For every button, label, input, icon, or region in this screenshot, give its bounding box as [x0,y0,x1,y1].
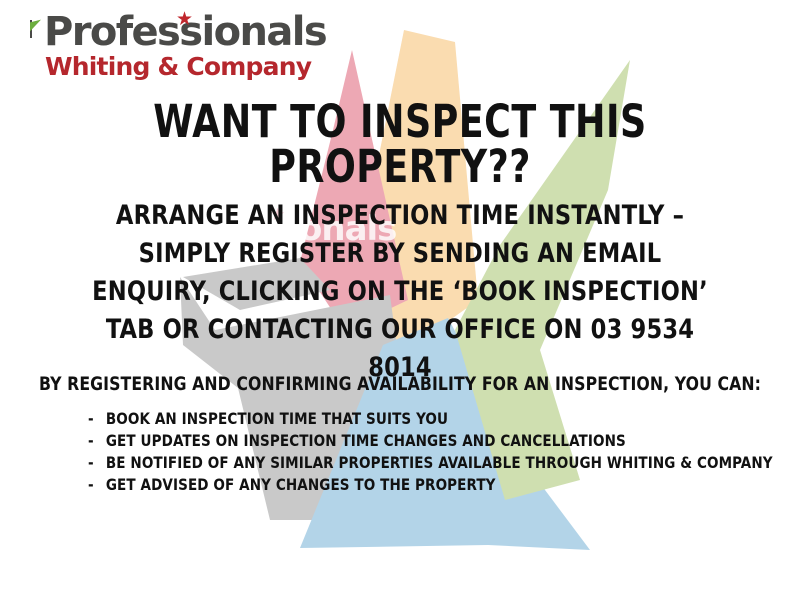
list-item-label: Get advised of any changes to the proper… [106,475,496,494]
list-item: -Book an inspection time that suits you [88,408,746,430]
list-item: -Be notified of any similar properties a… [88,452,746,474]
flyer-paragraph: Arrange an inspection time instantly – s… [79,197,721,387]
bullet-marker: - [88,452,106,474]
bullet-marker: - [88,430,106,452]
list-item: -Get updates on inspection time changes … [88,430,746,452]
benefits-list: -Book an inspection time that suits you … [88,408,788,496]
green-flag-icon [30,20,41,32]
page-title: Want to inspect this property?? [40,99,760,189]
list-item-label: Be notified of any similar properties av… [106,453,773,472]
bullet-marker: - [88,474,106,496]
list-item-label: Book an inspection time that suits you [106,409,448,428]
red-star-icon: ★ [176,10,191,29]
flyer-subheading: By registering and confirming availabili… [32,373,768,395]
logo-secondary-name: Whiting & Company [30,54,326,79]
list-item: -Get advised of any changes to the prope… [88,474,746,496]
list-item-label: Get updates on inspection time changes a… [106,431,626,450]
logo-primary-name-row: Professionals ★ [30,12,326,52]
brand-logo[interactable]: Professionals ★ Whiting & Company [30,12,326,79]
bullet-marker: - [88,408,106,430]
